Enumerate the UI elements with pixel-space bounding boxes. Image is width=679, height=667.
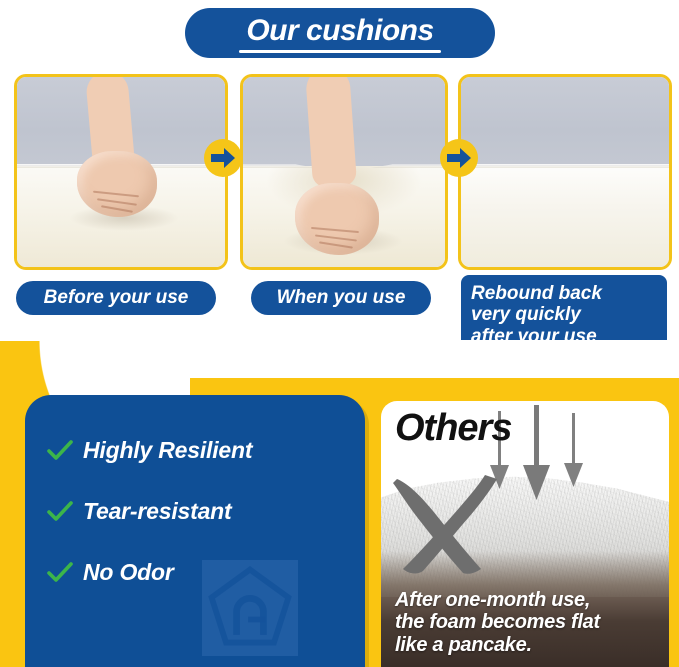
others-caption: After one-month use, the foam becomes fl…	[395, 589, 661, 657]
feature-item: Tear-resistant	[47, 498, 347, 525]
feature-label: Tear-resistant	[83, 498, 231, 525]
feature-item: No Odor	[47, 559, 347, 586]
others-caption-line1: After one-month use,	[395, 589, 661, 612]
feature-card: Highly Resilient Tear-resistant No Odor	[25, 395, 365, 667]
pentagon-house-logo-icon	[202, 560, 298, 656]
arrow-right-icon	[447, 148, 471, 168]
foam-edge	[461, 164, 669, 168]
scene-fist-pressing	[243, 77, 445, 267]
foam-surface-flat	[461, 166, 669, 267]
feature-label: Highly Resilient	[83, 437, 252, 464]
step-label-before-text: Before your use	[44, 287, 189, 309]
page-title-pill: Our cushions	[185, 8, 495, 58]
step-panel-when	[240, 74, 448, 270]
arrow-right-icon	[211, 148, 235, 168]
step-label-when: When you use	[251, 281, 431, 315]
scene-foam-rebounded	[461, 77, 669, 267]
check-icon	[47, 501, 73, 523]
step-arrow-2	[440, 139, 478, 177]
others-caption-line3: like a pancake.	[395, 634, 661, 657]
down-arrow-icon	[564, 413, 583, 487]
title-underline	[239, 50, 441, 53]
step-label-before: Before your use	[16, 281, 216, 315]
step-label-rebound-line2: very quickly	[471, 304, 581, 325]
others-card: Others Aft	[381, 401, 669, 667]
forearm	[305, 74, 357, 188]
check-icon	[47, 440, 73, 462]
background-wall	[461, 77, 669, 166]
step-panel-before	[14, 74, 228, 270]
step-arrow-1	[204, 139, 242, 177]
feature-item: Highly Resilient	[47, 437, 347, 464]
step-label-rebound-line1: Rebound back	[471, 283, 602, 304]
page-title: Our cushions	[246, 16, 433, 46]
yellow-notch-curve	[0, 340, 190, 402]
step-label-when-text: When you use	[277, 287, 406, 309]
down-arrow-icon	[523, 405, 550, 500]
white-strip	[150, 340, 679, 378]
check-icon	[47, 562, 73, 584]
others-title: Others	[395, 407, 511, 450]
scene-fist-resting	[17, 77, 225, 267]
step-panel-rebound	[458, 74, 672, 270]
feature-list: Highly Resilient Tear-resistant No Odor	[47, 437, 347, 620]
infographic-root: Our cushions	[0, 0, 679, 667]
x-brush-mark-icon	[389, 461, 513, 581]
others-caption-line2: the foam becomes flat	[395, 611, 661, 634]
feature-label: No Odor	[83, 559, 174, 586]
